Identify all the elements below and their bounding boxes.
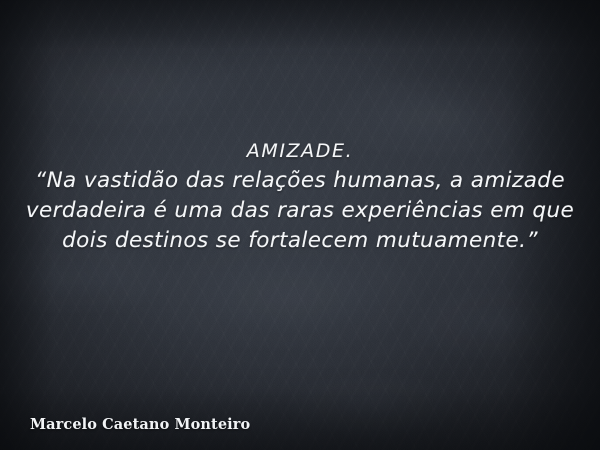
quote-block: AMIZADE. “Na vastidão das relações human… xyxy=(0,136,600,256)
quote-line-1: “Na vastidão das relações humanas, a ami… xyxy=(16,166,584,196)
quote-title: AMIZADE. xyxy=(16,136,584,166)
quote-line-3: dois destinos se fortalecem mutuamente.” xyxy=(16,226,584,256)
quote-line-2: verdadeira é uma das raras experiências … xyxy=(16,196,584,226)
quote-card: AMIZADE. “Na vastidão das relações human… xyxy=(0,0,600,450)
author-attribution: Marcelo Caetano Monteiro xyxy=(30,416,250,433)
